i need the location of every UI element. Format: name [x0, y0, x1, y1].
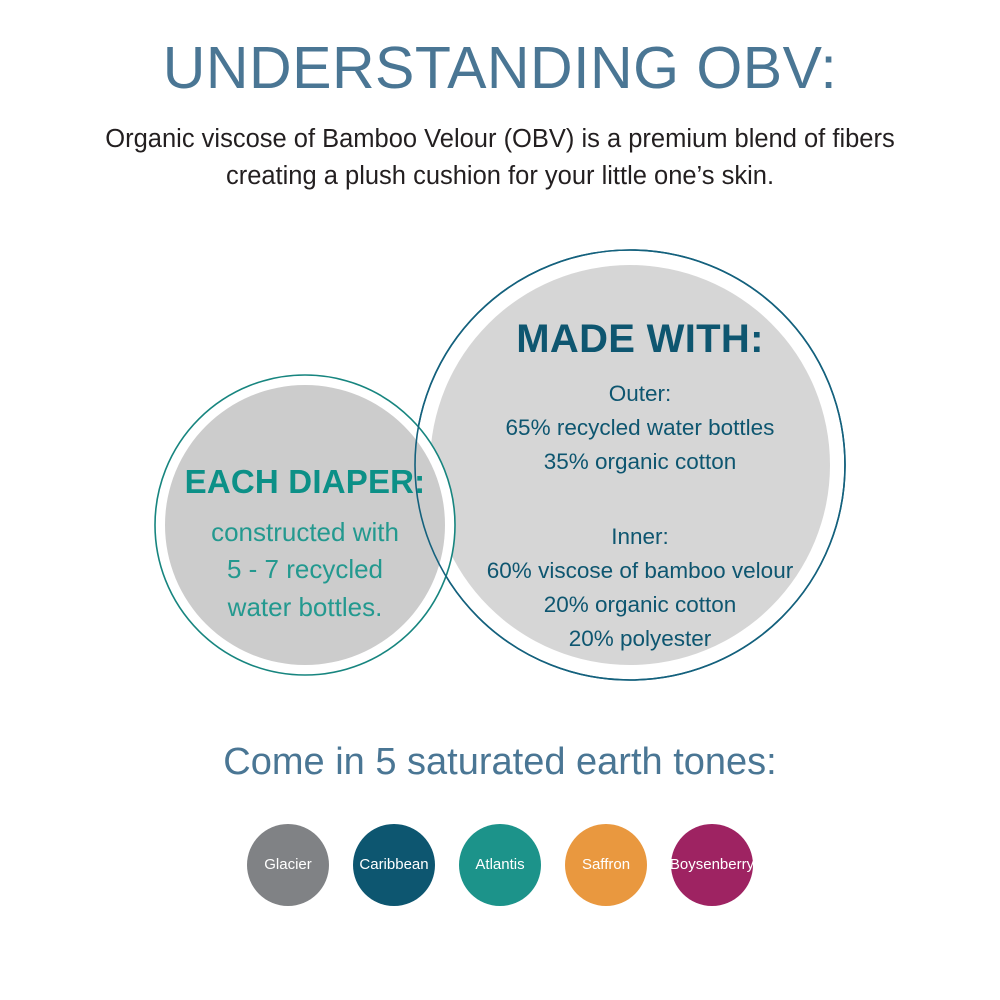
tones-title: Come in 5 saturated earth tones:: [0, 740, 1000, 786]
made-with-heading: MADE WITH:: [450, 315, 830, 363]
venn-diagram: EACH DIAPER: constructed with 5 - 7 recy…: [0, 230, 1000, 720]
color-swatch-boysenberry[interactable]: Boysenberry: [671, 824, 753, 906]
each-diaper-body: constructed with 5 - 7 recycled water bo…: [155, 514, 455, 627]
right-circle-text: MADE WITH: Outer: 65% recycled water bot…: [450, 315, 830, 656]
outer-line-2: 35% organic cotton: [450, 445, 830, 479]
each-diaper-heading: EACH DIAPER:: [155, 462, 455, 502]
color-swatch-label: Caribbean: [359, 857, 428, 872]
intro-line-1: Organic viscose of Bamboo Velour (OBV) i…: [0, 121, 1000, 157]
intro-line-2: creating a plush cushion for your little…: [0, 158, 1000, 194]
color-swatch-label: Glacier: [264, 857, 312, 872]
color-swatch-row: GlacierCaribbeanAtlantisSaffronBoysenber…: [0, 824, 1000, 906]
obv-infographic: UNDERSTANDING OBV: Organic viscose of Ba…: [0, 0, 1000, 1000]
each-diaper-line-2: 5 - 7 recycled: [155, 551, 455, 589]
page-title: UNDERSTANDING OBV:: [0, 0, 1000, 99]
color-swatch-glacier[interactable]: Glacier: [247, 824, 329, 906]
color-swatch-label: Saffron: [582, 857, 630, 872]
color-swatch-label: Atlantis: [475, 857, 524, 872]
inner-composition-group: Inner: 60% viscose of bamboo velour 20% …: [450, 520, 830, 657]
color-swatch-label: Boysenberry: [670, 857, 754, 872]
inner-label: Inner:: [450, 520, 830, 554]
outer-line-1: 65% recycled water bottles: [450, 411, 830, 445]
each-diaper-line-3: water bottles.: [155, 589, 455, 627]
color-swatch-saffron[interactable]: Saffron: [565, 824, 647, 906]
color-swatch-atlantis[interactable]: Atlantis: [459, 824, 541, 906]
each-diaper-line-1: constructed with: [155, 514, 455, 552]
inner-line-1: 60% viscose of bamboo velour: [450, 554, 830, 588]
inner-line-3: 20% polyester: [450, 622, 830, 656]
intro-paragraph: Organic viscose of Bamboo Velour (OBV) i…: [0, 99, 1000, 193]
inner-line-2: 20% organic cotton: [450, 588, 830, 622]
left-circle-text: EACH DIAPER: constructed with 5 - 7 recy…: [155, 462, 455, 627]
outer-composition-group: Outer: 65% recycled water bottles 35% or…: [450, 377, 830, 480]
header-section: UNDERSTANDING OBV: Organic viscose of Ba…: [0, 0, 1000, 194]
outer-label: Outer:: [450, 377, 830, 411]
color-tones-section: Come in 5 saturated earth tones: Glacier…: [0, 740, 1000, 906]
color-swatch-caribbean[interactable]: Caribbean: [353, 824, 435, 906]
